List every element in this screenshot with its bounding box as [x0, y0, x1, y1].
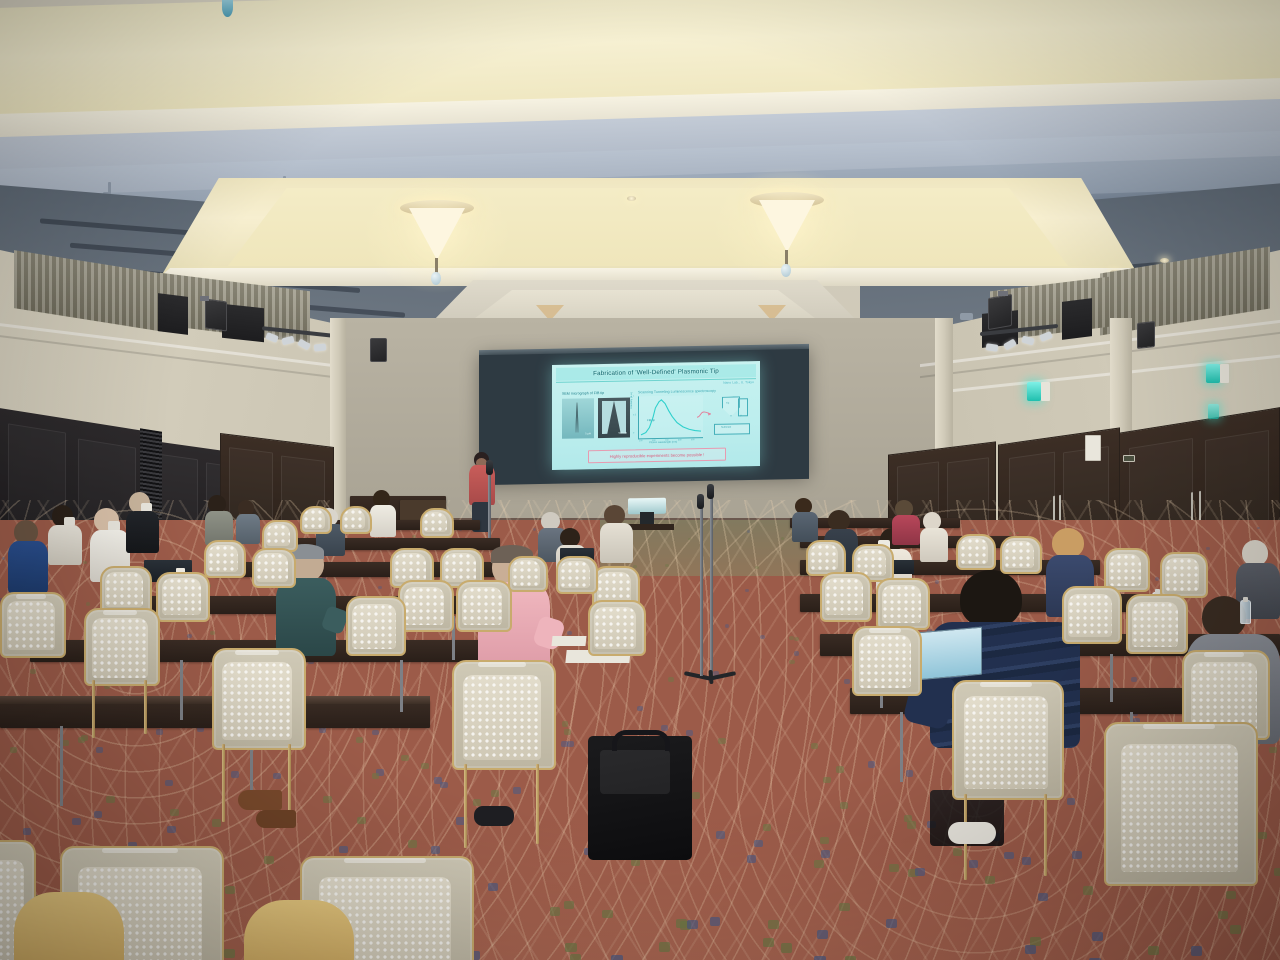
carpet-dot [562, 721, 569, 727]
carpet-dot [814, 860, 823, 868]
carpet-dot [372, 773, 380, 779]
schem-label-bias: V [740, 414, 742, 417]
carpet-dot [81, 735, 88, 741]
chair[interactable] [340, 506, 368, 530]
carpet-dot [840, 802, 848, 809]
carpet-dot [434, 777, 442, 784]
carpet-dot [602, 910, 612, 919]
carpet-dot [1218, 911, 1228, 920]
chair[interactable] [456, 580, 508, 628]
chair[interactable] [452, 660, 552, 766]
exit-sign-icon [1208, 404, 1219, 419]
chair[interactable] [1000, 536, 1038, 570]
carpet-dot [167, 826, 176, 833]
downlight-icon [627, 196, 636, 201]
carpet-dot [1258, 832, 1267, 839]
speaker-bracket [200, 296, 209, 301]
shoe [948, 822, 996, 844]
excitation-arrow-icon [696, 409, 712, 419]
wall-speaker-icon [988, 294, 1012, 330]
carpet-dot [30, 669, 36, 674]
slide-affiliation: Nano Lab., U. Tokyo [723, 380, 754, 385]
carpet-dot [814, 956, 825, 960]
carpet-dot [781, 943, 792, 952]
carpet-dot [156, 729, 163, 735]
carpet-dot [570, 954, 581, 960]
carpet-dot [768, 920, 779, 929]
carpet-dot [1191, 946, 1202, 955]
plot-xtick: 900 [691, 439, 695, 441]
chair-seat-foreground [244, 900, 354, 960]
carpet-dot [1206, 547, 1209, 550]
carpet-dot [187, 634, 192, 638]
carpet-dot [971, 529, 974, 532]
carpet-dot [969, 860, 978, 868]
carpet-dot [1038, 893, 1048, 901]
carpet-dot [817, 930, 828, 939]
handout-paper[interactable] [551, 636, 586, 646]
carpet-dot [1067, 798, 1075, 805]
carpet-dot [1092, 932, 1103, 941]
shoe [474, 806, 514, 826]
carpet-dot [225, 886, 235, 894]
slide-footer-callout: Highly reproducible experiments become p… [588, 448, 726, 464]
plot-xtick: 800 [678, 440, 682, 442]
carpet-dot [319, 727, 326, 733]
microphone-icon [707, 484, 714, 499]
carpet-dot [763, 824, 772, 831]
carpet-dot [754, 840, 763, 848]
carpet-dot [567, 741, 574, 747]
chair[interactable] [252, 548, 292, 584]
carpet-dot [747, 855, 756, 863]
clerestory-panel [1062, 298, 1092, 340]
wall-control-panel[interactable] [1085, 435, 1101, 461]
carpet-dot [550, 907, 560, 916]
chair[interactable] [420, 508, 450, 534]
microphone-icon [486, 460, 493, 475]
carpet-dot [567, 631, 572, 635]
carpet-dot [96, 747, 103, 753]
carpet-dot [62, 740, 69, 746]
chair[interactable] [440, 548, 480, 584]
track-light-icon [986, 343, 999, 352]
wall-speaker-icon [1137, 321, 1155, 349]
chair-foreground[interactable] [952, 680, 1060, 796]
carpet-dot [820, 837, 829, 845]
carpet-dot [323, 796, 331, 803]
tip-substrate-schematic: Tip V Substrate [710, 394, 754, 437]
carpet-dot [106, 796, 114, 803]
chair[interactable] [1104, 548, 1146, 588]
chair[interactable] [956, 534, 992, 566]
ceiling-spot-icon [960, 313, 973, 320]
carpet-dot [821, 850, 830, 858]
carpet-dot [94, 811, 103, 818]
plot-annotation: FIB tip [647, 418, 655, 422]
carpet-dot [868, 761, 876, 767]
carpet-dot [1083, 886, 1093, 894]
chair[interactable] [1062, 586, 1118, 640]
shoe [256, 810, 296, 828]
carpet-dot [401, 755, 408, 761]
carpet-dot [611, 955, 622, 960]
wall-indicator [1123, 455, 1135, 462]
schem-label-substrate: Substrate [721, 426, 731, 429]
microphone-icon [697, 494, 704, 509]
carpet-dot [836, 766, 844, 772]
presentation-slide: Fabrication of 'Well-Defined' Plasmonic … [552, 361, 760, 470]
carpet-dot [473, 799, 481, 806]
carpet-dot [668, 677, 674, 682]
carpet-dot [372, 730, 379, 736]
plot-ylabel: Intensity (a.u.) [630, 392, 633, 408]
plot-xtick: 500 [639, 440, 643, 442]
carpet-dot [1148, 946, 1159, 955]
chair[interactable] [204, 540, 242, 574]
plot-ytick: 0.5 [633, 414, 636, 416]
chair[interactable] [588, 600, 642, 652]
shoe [238, 790, 282, 810]
carpet-dot [1155, 577, 1159, 580]
carpet-dot [811, 743, 818, 749]
exit-sign-icon [1027, 382, 1041, 401]
carpet-dot [491, 790, 499, 797]
carpet-dot [1274, 868, 1280, 876]
plot-xlabel: Photon wavelength (nm) [649, 441, 677, 445]
backpack[interactable] [588, 736, 692, 860]
chair-foreground[interactable] [1104, 722, 1254, 882]
chair[interactable] [0, 592, 62, 654]
luminescence-spectrum-plot: FIB tip 1 0.5 0 500 600 700 800 900 Phot… [638, 395, 703, 439]
exit-sign-plate [1220, 364, 1229, 383]
carpet-dot [839, 903, 849, 912]
carpet-dot [408, 840, 417, 848]
exit-sign-icon [1206, 364, 1220, 383]
carpet-dot [165, 780, 173, 787]
chair[interactable] [820, 572, 868, 618]
sem-micrograph-1: 5 μm [562, 398, 594, 439]
carpet-dot [823, 777, 831, 784]
carpet-dot [845, 956, 856, 960]
carpet-dot [692, 792, 700, 799]
chair[interactable] [346, 596, 402, 652]
carpet-dot [659, 942, 670, 951]
wall-speaker-icon [370, 338, 387, 362]
carpet-dot [564, 901, 574, 910]
carpet-dot [170, 809, 178, 816]
chair[interactable] [390, 548, 430, 584]
clerestory-panel [222, 304, 264, 342]
plot-ytick: 1 [633, 395, 634, 397]
lectern-mic-stand [488, 468, 491, 538]
carpet-dot [1269, 747, 1276, 753]
conference-hall-photo: Fabrication of 'Well-Defined' Plasmonic … [0, 0, 1280, 960]
carpet-dot [935, 580, 939, 583]
spectrum-curve [639, 395, 703, 438]
carpet-dot [686, 730, 693, 736]
chair[interactable] [300, 506, 328, 530]
ceiling-cove-mid [228, 188, 1068, 266]
carpet-dot [661, 725, 668, 731]
carpet-dot [915, 868, 925, 876]
carpet-dot [339, 846, 348, 854]
carpet-dot [83, 561, 87, 564]
carpet-dot [1226, 891, 1236, 899]
carpet-dot [565, 943, 576, 952]
plot-ytick: 0 [633, 432, 634, 434]
carpet-dot [716, 831, 725, 838]
carpet-dot [781, 537, 784, 540]
carpet-dot [1072, 851, 1081, 859]
carpet-dot [747, 530, 750, 533]
carpet-dot [794, 651, 799, 656]
carpet-dot [273, 773, 281, 779]
lamp-cone-icon [759, 200, 815, 252]
carpet-dot [1022, 857, 1031, 865]
aisle-mic-stand-near [700, 502, 703, 676]
schem-label-tip: Tip [726, 402, 729, 405]
chair[interactable] [876, 578, 926, 626]
sem-micrograph-2: 500 nm [598, 397, 630, 438]
chair[interactable] [1126, 594, 1184, 650]
carpet-dot [23, 828, 32, 835]
carpet-dot [953, 848, 962, 856]
carpet-dot [72, 818, 81, 825]
carpet-dot [1004, 852, 1013, 860]
mic-tripod-base [684, 672, 738, 680]
lamp-cone-icon [409, 208, 465, 260]
carpet-dot [904, 815, 913, 822]
sem-scale-1: 5 μm [585, 432, 591, 435]
slide-footer-text: Highly reproducible experiments become p… [610, 452, 705, 459]
exit-sign-plate [1041, 382, 1050, 401]
carpet-dot [688, 538, 691, 541]
carpet-dot [906, 770, 914, 776]
carpet-dot [760, 635, 765, 639]
carpet-dot [886, 919, 897, 928]
carpet-dot [789, 660, 795, 665]
carpet-dot [889, 864, 899, 872]
sem-scale-2: 500 nm [618, 432, 627, 435]
slide-label-stl: Scanning Tunneling Luminescence spectros… [638, 389, 716, 394]
carpet-dot [564, 729, 571, 735]
slide-title: Fabrication of 'Well-Defined' Plasmonic … [593, 368, 719, 377]
clerestory-panel [158, 293, 188, 335]
carpet-dot [533, 528, 536, 531]
carpet-dot [687, 920, 698, 929]
chair[interactable] [852, 626, 918, 692]
water-bottle[interactable] [1240, 600, 1251, 624]
carpet-dot [1131, 677, 1137, 682]
chair[interactable] [262, 520, 294, 548]
chair[interactable] [806, 540, 842, 572]
wall-speaker-icon [205, 298, 227, 331]
aisle-mic-stand-far [710, 492, 713, 678]
chair-seat-foreground [14, 892, 124, 960]
chair[interactable] [508, 556, 544, 588]
carpet-dot [224, 949, 235, 958]
chair[interactable] [100, 566, 148, 610]
carpet-dot [844, 679, 850, 684]
carpet-dot [212, 819, 221, 826]
carpet-dot [264, 856, 273, 864]
chair[interactable] [84, 608, 156, 682]
carpet-dot [794, 637, 799, 641]
chair[interactable] [1160, 552, 1204, 594]
carpet-dot [710, 917, 721, 926]
carpet-dot [907, 821, 916, 828]
chair[interactable] [212, 648, 302, 746]
carpet-dot [1230, 925, 1241, 934]
carpet-dot [421, 763, 429, 769]
carpet-dot [357, 817, 366, 824]
carpet-dot [10, 747, 17, 753]
carpet-dot [718, 738, 725, 744]
carpet-dot [1025, 945, 1036, 954]
carpet-dot [210, 631, 215, 635]
carpet-dot [985, 876, 995, 884]
chair[interactable] [556, 556, 594, 590]
chair[interactable] [156, 572, 206, 618]
carpet-dot [513, 787, 521, 794]
carpet-dot [431, 846, 440, 854]
carpet-dot [356, 737, 363, 743]
track-light-icon [314, 343, 327, 351]
speaker-bracket [998, 291, 1008, 296]
carpet-dot [763, 938, 774, 947]
slide-label-sem: SEM micrograph of FIB tip [562, 391, 604, 396]
carpet-dot [231, 771, 239, 777]
carpet-dot [488, 883, 498, 891]
